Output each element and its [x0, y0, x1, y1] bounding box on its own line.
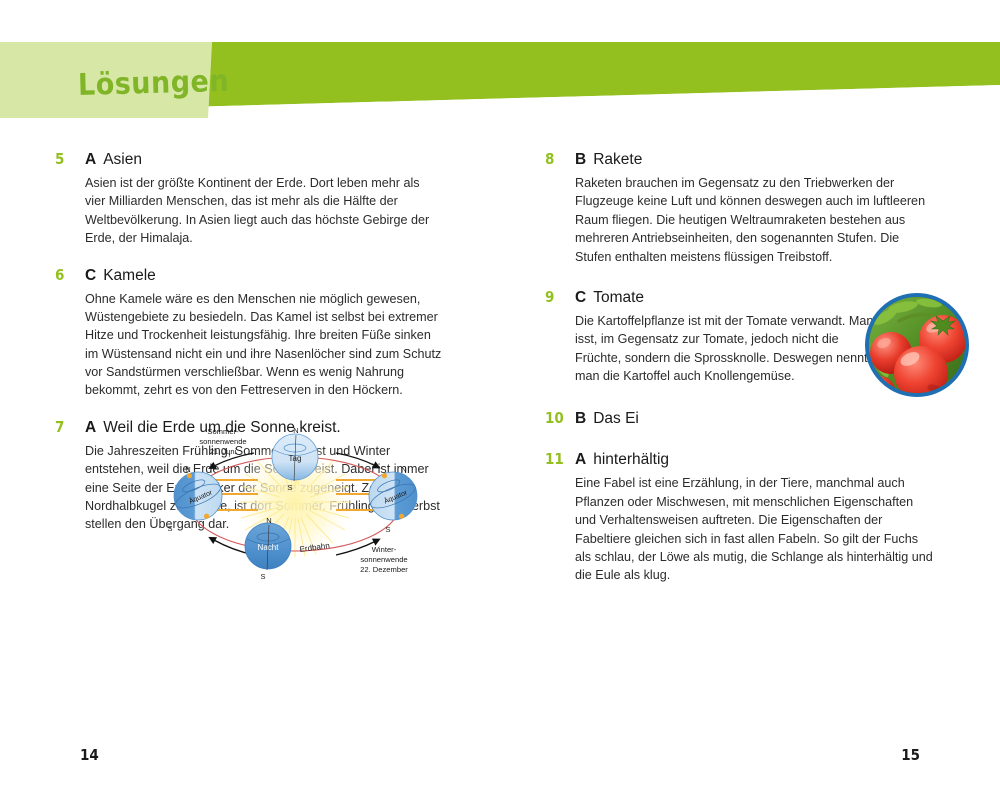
answer-title: hinterhältig — [593, 451, 669, 469]
answer-heading: 6 C Kamele — [55, 266, 455, 285]
answer-heading: 8 B Rakete — [545, 150, 945, 169]
answer-body-text: Raketen brauchen im Gegensatz zu den Tri… — [575, 174, 933, 266]
answer-letter: A — [85, 151, 96, 169]
answer-letter: C — [85, 267, 96, 285]
answer-title: Rakete — [593, 151, 642, 169]
page-content: 5 A Asien Asien ist der größte Kontinent… — [0, 150, 1000, 800]
answer-letter: C — [575, 289, 586, 307]
answer-item: 11 A hinterhältig Eine Fabel ist eine Er… — [545, 450, 945, 584]
page-header-banner: Lösungen — [0, 0, 1000, 150]
answer-body: Die Kartoffelpflanze ist mit der Tomate … — [575, 312, 885, 386]
answer-body-text: Ohne Kamele wäre es den Menschen nie mög… — [85, 290, 443, 400]
winter-solstice-label-line2: sonnenwende — [360, 555, 407, 564]
answer-heading: 11 A hinterhältig — [545, 450, 945, 469]
answer-body-text: Asien ist der größte Kontinent der Erde.… — [85, 174, 443, 248]
globe-south-label: S — [385, 525, 390, 534]
globe-south-label: S — [167, 524, 172, 533]
answer-body: Raketen brauchen im Gegensatz zu den Tri… — [575, 174, 933, 266]
answer-title: Tomate — [593, 289, 644, 307]
answer-number: 8 — [545, 150, 575, 168]
answer-number: 11 — [545, 450, 575, 468]
tomato-photo-image — [869, 297, 969, 397]
answer-letter: B — [575, 151, 586, 169]
seasons-diagram-svg: Tag N S Nacht N S — [150, 424, 440, 584]
page-title: Lösungen — [78, 64, 230, 103]
answer-letter: B — [575, 410, 586, 428]
answer-number: 5 — [55, 150, 85, 168]
globe-north-label: N — [401, 465, 406, 474]
left-column: 5 A Asien Asien ist der größte Kontinent… — [55, 150, 455, 548]
answer-item: 6 C Kamele Ohne Kamele wäre es den Mensc… — [55, 266, 455, 400]
answer-heading: 5 A Asien — [55, 150, 455, 169]
page-number-left: 14 — [80, 746, 99, 764]
globe-north-label: N — [266, 516, 271, 525]
answer-item: 8 B Rakete Raketen brauchen im Gegensatz… — [545, 150, 945, 266]
answer-item: 5 A Asien Asien ist der größte Kontinent… — [55, 150, 455, 248]
answer-body-text: Eine Fabel ist eine Erzählung, in der Ti… — [575, 474, 933, 584]
answer-heading: 10 B Das Ei — [545, 409, 945, 428]
answer-number: 9 — [545, 288, 575, 306]
page-number-right: 15 — [901, 746, 920, 764]
answer-letter: A — [85, 419, 96, 437]
answer-title: Kamele — [103, 267, 156, 285]
globe-south-label: S — [287, 483, 292, 492]
globe-south-label: S — [260, 572, 265, 581]
tomato-photo — [865, 293, 969, 397]
answer-number: 6 — [55, 266, 85, 284]
answer-body-text: Die Kartoffelpflanze ist mit der Tomate … — [575, 312, 885, 386]
answer-number: 10 — [545, 409, 575, 427]
globe-north-label: N — [185, 465, 190, 474]
summer-solstice-label-line2: sonnenwende — [199, 437, 246, 446]
answer-body: Eine Fabel ist eine Erzählung, in der Ti… — [575, 474, 933, 584]
answer-number: 7 — [55, 418, 85, 436]
seasons-diagram: Tag N S Nacht N S — [150, 424, 440, 584]
answer-item: 10 B Das Ei — [545, 409, 945, 428]
tomato-photo-ring — [865, 293, 969, 397]
winter-solstice-label-line3: 22. Dezember — [360, 565, 408, 574]
globe-north-label: N — [293, 426, 298, 435]
answer-title: Das Ei — [593, 410, 639, 428]
answer-body: Asien ist der größte Kontinent der Erde.… — [85, 174, 443, 248]
answer-letter: A — [575, 451, 586, 469]
winter-solstice-label-line1: Winter- — [372, 545, 397, 554]
answer-title: Asien — [103, 151, 142, 169]
answer-item: 9 C Tomate Die Kartoffelpflanze ist mit … — [545, 288, 945, 386]
answer-item: 7 A Weil die Erde um die Sonne kreist. D… — [55, 418, 455, 534]
globe-right-winter: Äquator N S — [361, 464, 424, 534]
summer-solstice-label-line3: 21. Juni — [210, 447, 237, 456]
right-column: 8 B Rakete Raketen brauchen im Gegensatz… — [545, 150, 945, 599]
answer-body: Ohne Kamele wäre es den Menschen nie mög… — [85, 290, 443, 400]
summer-solstice-label-line1: Sommer- — [207, 427, 239, 436]
